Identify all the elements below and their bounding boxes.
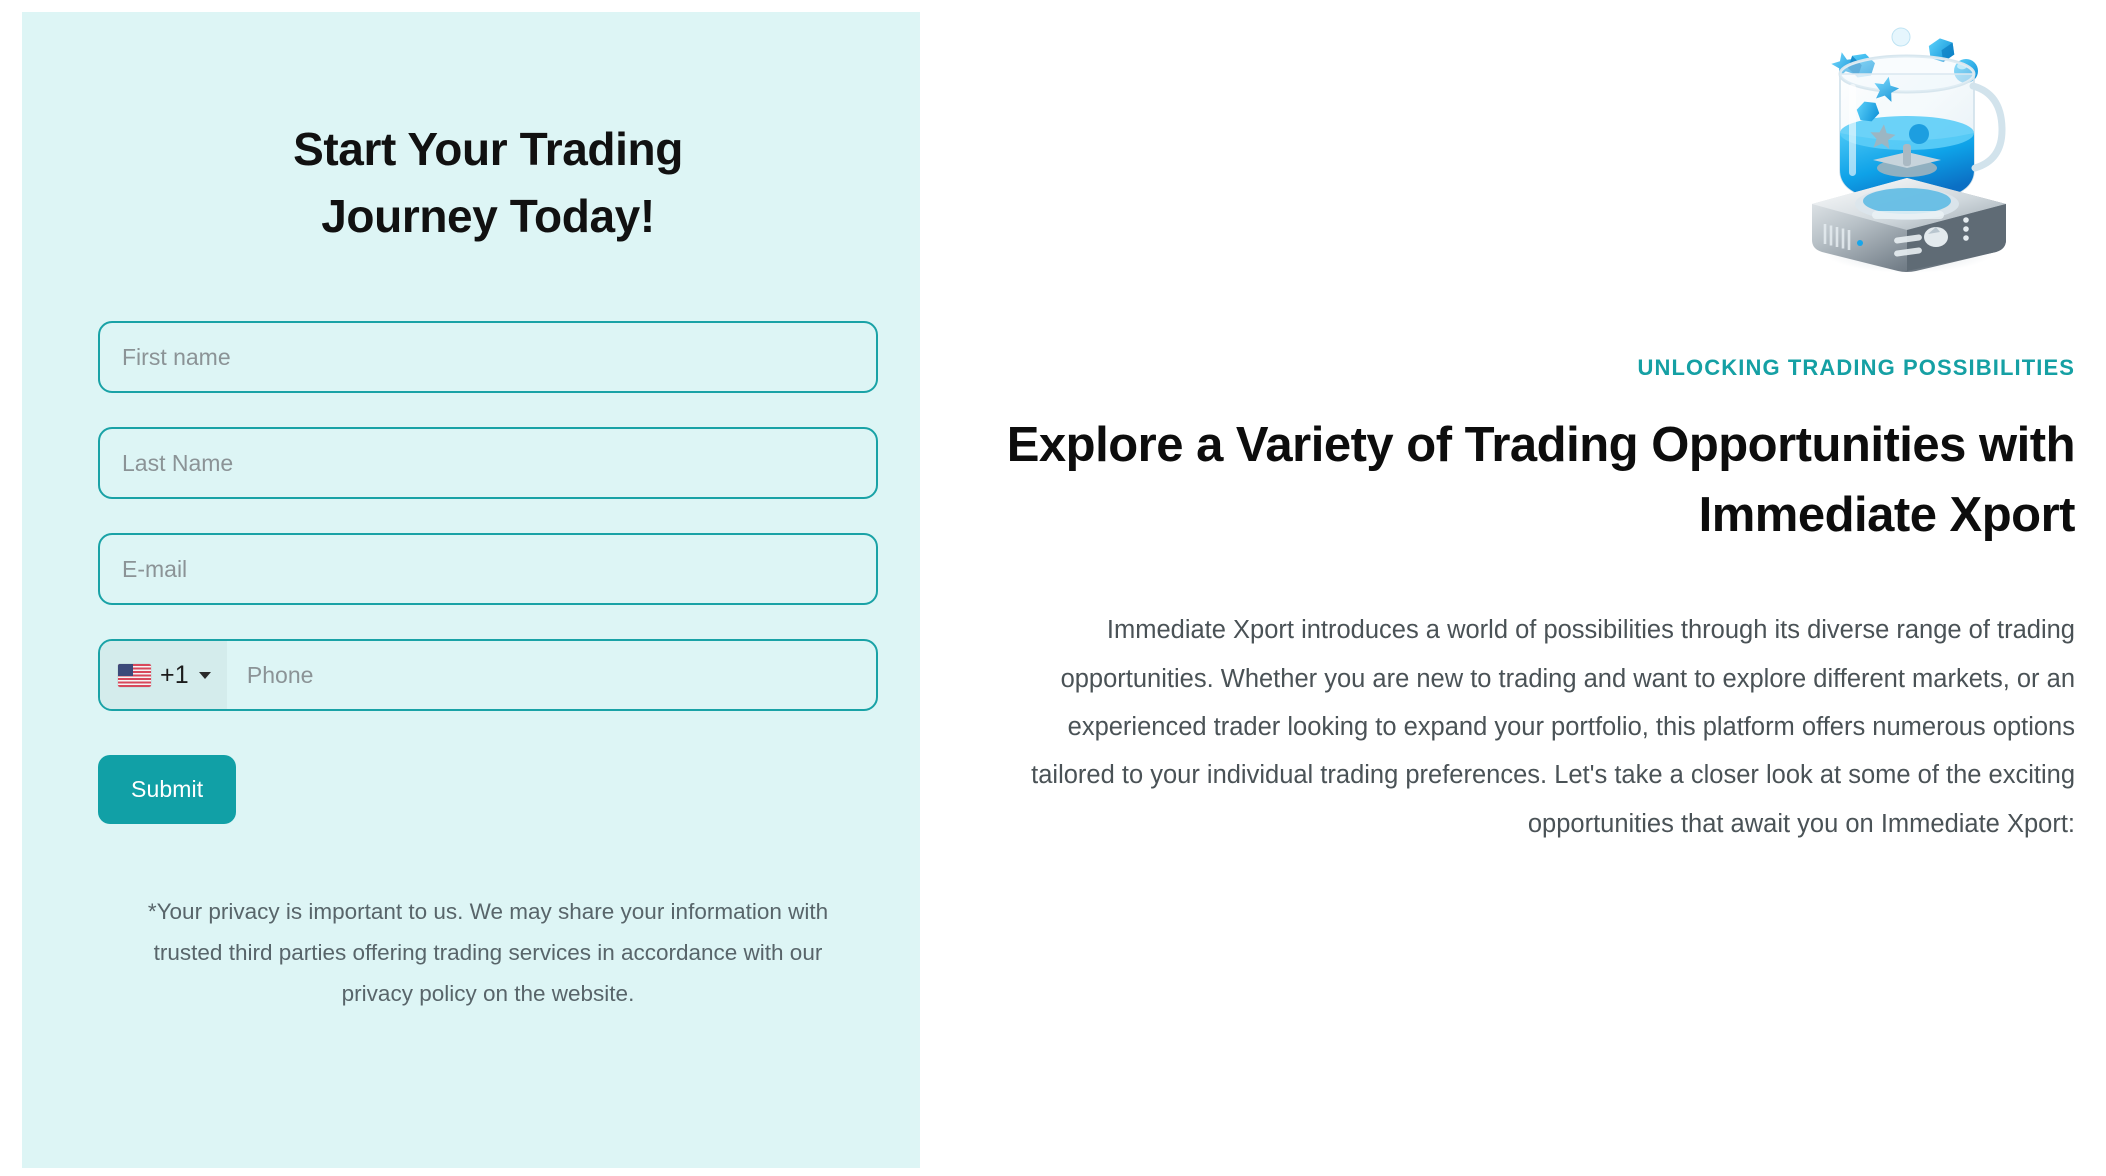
phone-input[interactable] (227, 641, 876, 709)
right-content: UNLOCKING TRADING POSSIBILITIES Explore … (985, 355, 2075, 848)
country-code-selector[interactable]: +1 (100, 641, 227, 709)
chevron-down-icon (199, 672, 211, 679)
section-heading: Explore a Variety of Trading Opportuniti… (985, 410, 2075, 550)
phone-field-group: +1 (98, 639, 878, 711)
section-body: Immediate Xport introduces a world of po… (985, 606, 2075, 848)
submit-button[interactable]: Submit (98, 755, 236, 824)
privacy-note: *Your privacy is important to us. We may… (78, 892, 898, 1015)
blender-3d-illustration-icon (1776, 8, 2041, 283)
email-input[interactable] (98, 533, 878, 605)
form-title: Start Your Trading Journey Today! (78, 116, 898, 249)
last-name-input[interactable] (98, 427, 878, 499)
form-title-line-1: Start Your Trading (118, 116, 858, 183)
us-flag-icon (118, 664, 151, 687)
signup-form-panel: Start Your Trading Journey Today! (22, 12, 920, 1168)
landing-page: Start Your Trading Journey Today! (0, 0, 2106, 1176)
form-title-line-2: Journey Today! (118, 183, 858, 250)
form-inner: Start Your Trading Journey Today! (78, 12, 898, 1168)
first-name-input[interactable] (98, 321, 878, 393)
right-column: UNLOCKING TRADING POSSIBILITIES Explore … (920, 0, 2106, 1176)
submit-row: Submit (78, 755, 898, 824)
left-column: Start Your Trading Journey Today! (0, 0, 920, 1176)
dial-code-label: +1 (160, 661, 189, 690)
eyebrow-label: UNLOCKING TRADING POSSIBILITIES (985, 355, 2075, 381)
form-fields: +1 (78, 321, 898, 711)
